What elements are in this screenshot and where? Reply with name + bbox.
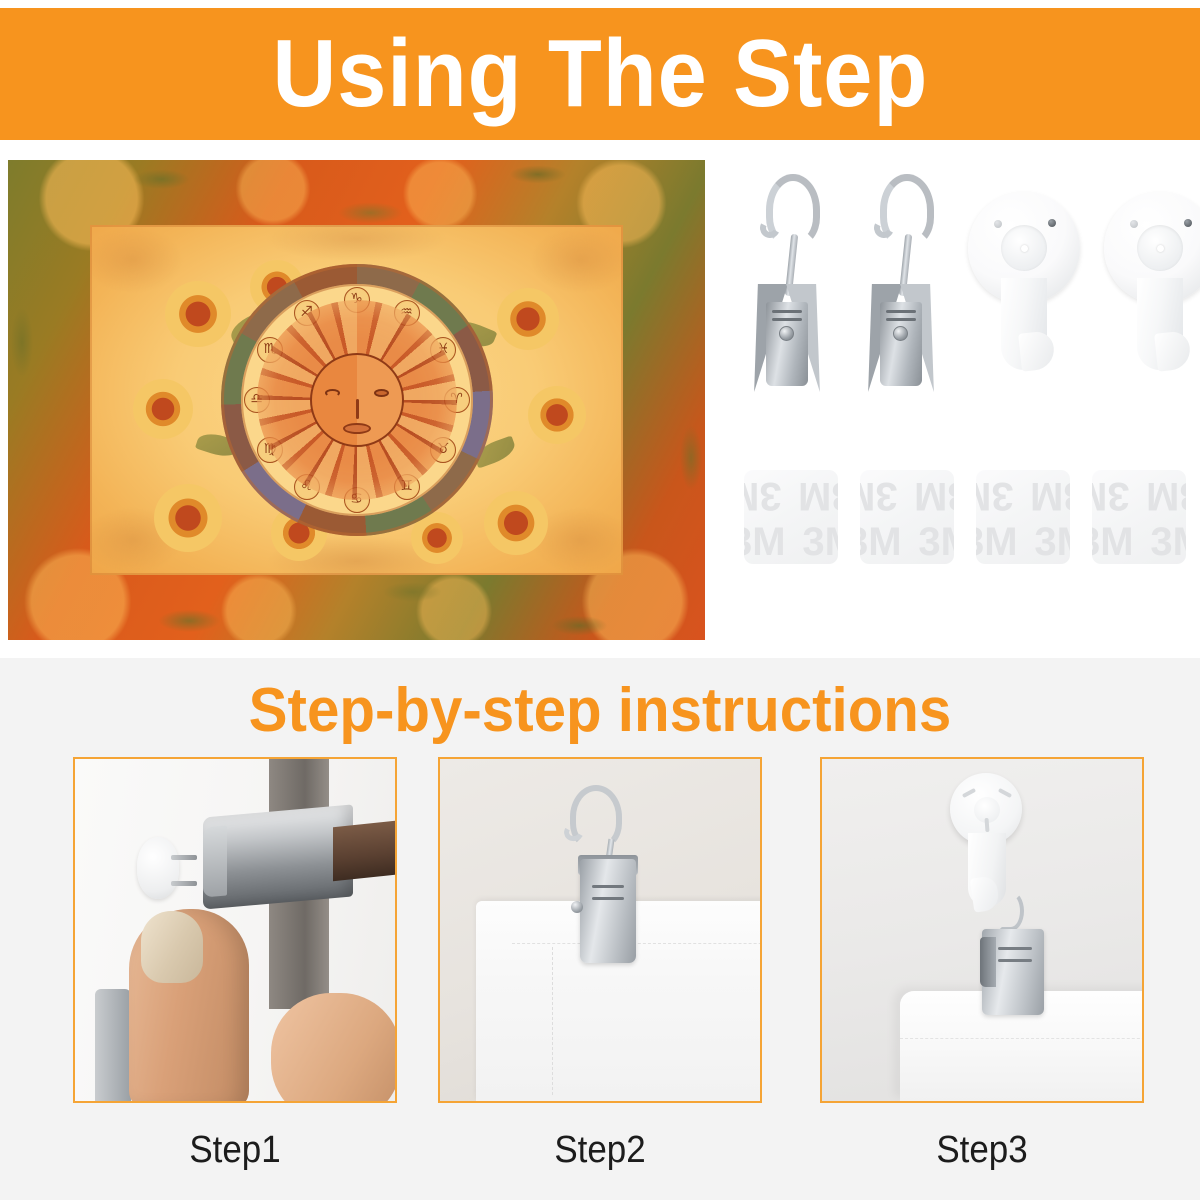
adhesive-brand-text: 3M — [1030, 476, 1070, 516]
hardware-row-hooks — [726, 172, 1192, 422]
hardware-row-adhesive-strips: 3M 3M 3M 3M 3M 3M 3M 3M 3M 3M 3M 3M — [726, 470, 1192, 590]
adhesive-brand-text: 3M — [1092, 476, 1130, 516]
adhesive-brand-text: 3M — [1034, 522, 1070, 562]
hook-side-profile — [95, 989, 131, 1103]
step-card-3: Step3 — [820, 757, 1144, 1169]
clip-rivet — [571, 901, 583, 913]
wall-hook-pin — [1184, 219, 1192, 227]
step-label-1: Step1 — [86, 1131, 384, 1169]
infographic-page: Using The Step ♑♒♓♈♉♊♋♌♍♎♏♐ — [0, 0, 1200, 1200]
sun-eye-right — [374, 389, 389, 397]
sunflower-motif — [484, 491, 548, 555]
product-section: ♑♒♓♈♉♊♋♌♍♎♏♐ — [0, 140, 1200, 658]
adhesive-strip-1: 3M 3M 3M 3M — [744, 470, 838, 564]
fabric-seam — [512, 943, 762, 944]
steps-row: Step1 — [0, 757, 1200, 1157]
tapestry-field: ♑♒♓♈♉♊♋♌♍♎♏♐ — [90, 225, 623, 575]
clip-plate — [766, 302, 808, 386]
adhesive-brand-text: 3M — [914, 476, 954, 516]
wall-hook-pin — [171, 881, 197, 886]
metal-s-hook-clip-2 — [854, 172, 950, 407]
clip-body — [868, 284, 934, 404]
adhesive-brand-text: 3M — [918, 522, 954, 562]
adhesive-brand-text: 3M — [1146, 476, 1186, 516]
adhesive-strip-2: 3M 3M 3M 3M — [860, 470, 954, 564]
sun-nose — [356, 399, 359, 419]
adhesive-brand-text: 3M — [860, 476, 898, 516]
wall-hook-barb — [1018, 330, 1056, 371]
sunflower-motif — [154, 484, 222, 552]
adhesive-brand-text: 3M — [860, 522, 902, 562]
clip-body — [580, 859, 636, 963]
s-hook-wire — [998, 891, 1024, 931]
clip-rivet — [779, 326, 794, 341]
wall-hook-head — [137, 837, 179, 899]
fabric-seam — [552, 947, 553, 1095]
clip-slot — [772, 310, 802, 313]
clip-slot — [772, 318, 802, 321]
clip-slot — [998, 947, 1032, 950]
step-card-1: Step1 — [73, 757, 397, 1169]
metal-clip-on-fabric-photo — [438, 757, 762, 1103]
wall-hook-center-dot — [1157, 245, 1164, 252]
clip-lever — [980, 937, 996, 987]
fabric-seam — [900, 1038, 1144, 1039]
metal-s-hook-clip-1 — [740, 172, 836, 407]
page-title: Using The Step — [272, 26, 928, 122]
fingernail — [141, 911, 203, 983]
hammer-tapping-wall-hook-photo — [73, 757, 397, 1103]
adhesive-brand-text: 3M — [1150, 522, 1186, 562]
sun-disc — [310, 353, 404, 447]
white-plastic-wall-hook-1 — [968, 192, 1080, 407]
hammer-face — [203, 825, 227, 897]
adhesive-brand-text: 3M — [744, 476, 782, 516]
wall-hook-pin — [1130, 220, 1138, 228]
adhesive-brand-text: 3M — [1092, 522, 1134, 562]
sun-face-motif — [257, 300, 457, 500]
adhesive-strip-3: 3M 3M 3M 3M — [976, 470, 1070, 564]
adhesive-strip-4: 3M 3M 3M 3M — [1092, 470, 1186, 564]
sunflower-motif — [165, 281, 231, 347]
adhesive-brand-text: 3M — [798, 476, 838, 516]
clip-slot — [592, 897, 624, 900]
header-banner: Using The Step — [0, 8, 1200, 140]
adhesive-brand-text: 3M — [976, 522, 1018, 562]
adhesive-brand-text: 3M — [744, 522, 786, 562]
sun-mouth — [343, 423, 371, 434]
step-label-2: Step2 — [451, 1131, 749, 1169]
step-card-2: Step2 — [438, 757, 762, 1169]
adhesive-brand-text: 3M — [976, 476, 1014, 516]
step-label-3: Step3 — [833, 1131, 1131, 1169]
clip-rivet — [893, 326, 908, 341]
sunflower-motif — [133, 379, 193, 439]
sunflower-motif — [497, 288, 559, 350]
wall-hook-barb — [1154, 330, 1192, 371]
adhesive-brand-text: 3M — [802, 522, 838, 562]
thumb — [271, 993, 397, 1103]
clip-slot — [886, 310, 916, 313]
wall-hook-pin — [171, 855, 197, 860]
hammer-head — [203, 804, 353, 909]
wall-hook-pin — [1048, 219, 1056, 227]
sun-zodiac-sunflower-tapestry: ♑♒♓♈♉♊♋♌♍♎♏♐ — [8, 160, 705, 640]
sunflower-motif — [528, 386, 586, 444]
hook-and-clip-hanging-fabric-photo — [820, 757, 1144, 1103]
instructions-section: Step-by-step instructions — [0, 658, 1200, 1200]
clip-slot — [998, 959, 1032, 962]
sun-eye-left — [325, 389, 340, 397]
hardware-group: 3M 3M 3M 3M 3M 3M 3M 3M 3M 3M 3M 3M — [712, 160, 1192, 640]
clip-slot — [886, 318, 916, 321]
clip-body — [754, 284, 820, 404]
instructions-title: Step-by-step instructions — [36, 680, 1164, 742]
clip-slot — [592, 885, 624, 888]
wall-hook-pin — [994, 220, 1002, 228]
clip-plate — [880, 302, 922, 386]
wall-hook-center-dot — [1021, 245, 1028, 252]
white-plastic-wall-hook-2 — [1104, 192, 1200, 407]
